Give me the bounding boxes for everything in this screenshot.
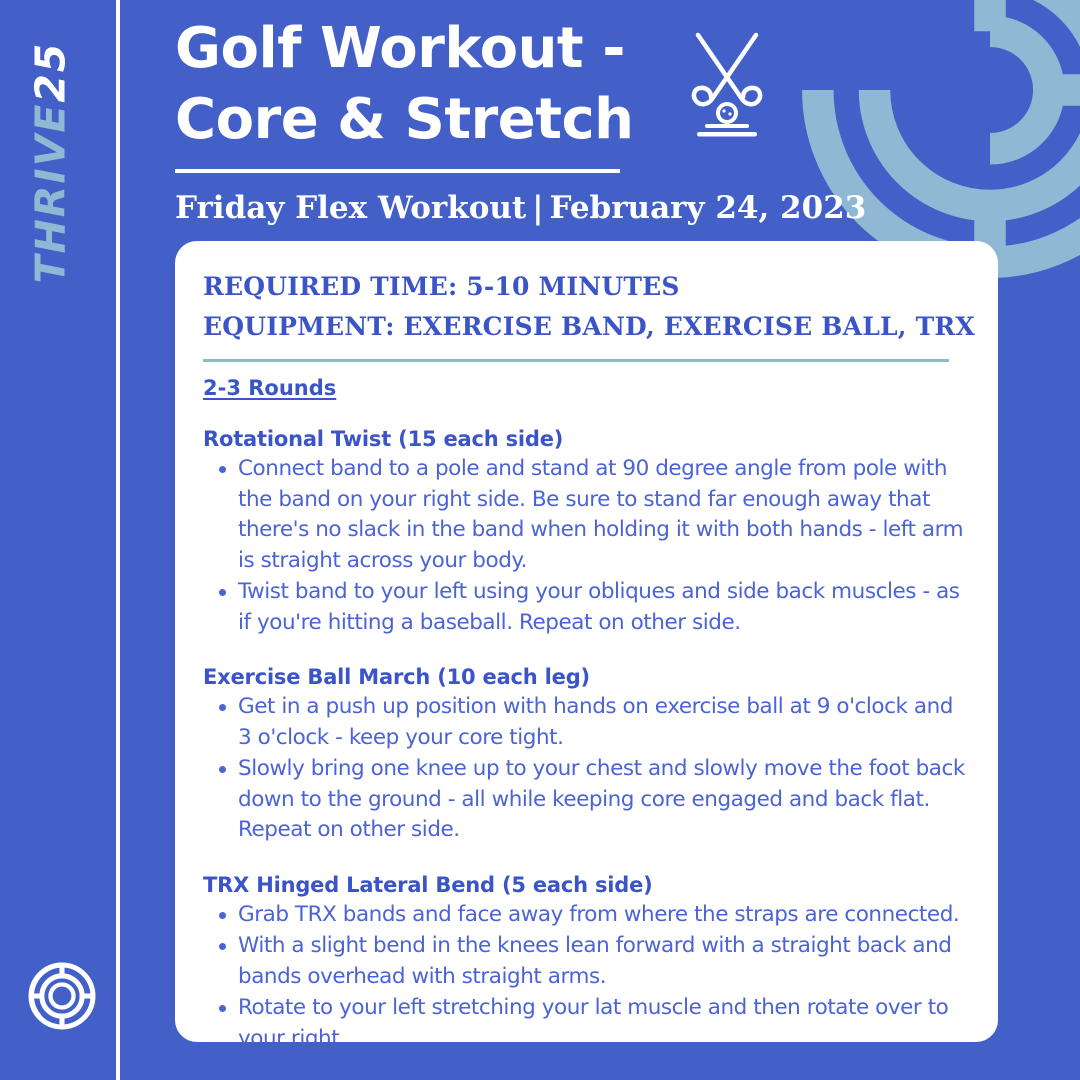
brand-wordmark: THRIVE25 [31, 33, 72, 293]
exercise-steps: Get in a push up position with hands on … [203, 692, 970, 846]
exercise-block: Rotational Twist (15 each side) Connect … [203, 427, 970, 638]
subtitle-separator: | [526, 190, 549, 226]
rail-divider [116, 0, 120, 1080]
exercise-step: Grab TRX bands and face away from where … [203, 900, 970, 931]
exercise-steps: Grab TRX bands and face away from where … [203, 900, 970, 1042]
exercise-block: Exercise Ball March (10 each leg) Get in… [203, 665, 970, 846]
exercise-title: Exercise Ball March (10 each leg) [203, 665, 970, 689]
exercise-step: With a slight bend in the knees lean for… [203, 931, 970, 992]
subtitle-date: February 24, 2023 [550, 190, 867, 226]
workout-infographic: THRIVE25 [0, 0, 1080, 1080]
crossed-golf-clubs-icon [672, 25, 782, 143]
subtitle: Friday Flex Workout|February 24, 2023 [175, 190, 875, 226]
brand-name-suffix: 25 [27, 42, 75, 103]
exercise-step: Slowly bring one knee up to your chest a… [203, 754, 970, 846]
exercise-step: Connect band to a pole and stand at 90 d… [203, 454, 970, 576]
required-time: REQUIRED TIME: 5-10 MINUTES [203, 267, 970, 307]
rounds-label: 2-3 Rounds [203, 376, 336, 400]
exercise-title: Rotational Twist (15 each side) [203, 427, 970, 451]
exercise-step: Get in a push up position with hands on … [203, 692, 970, 753]
exercise-step: Twist band to your left using your obliq… [203, 577, 970, 638]
exercise-title: TRX Hinged Lateral Bend (5 each side) [203, 873, 970, 897]
workout-card: REQUIRED TIME: 5-10 MINUTES EQUIPMENT: E… [175, 241, 998, 1042]
subtitle-workout-name: Friday Flex Workout [175, 190, 526, 226]
brand-name-primary: THRIVE [27, 103, 75, 284]
brand-rail: THRIVE25 [0, 0, 116, 1080]
exercise-steps: Connect band to a pole and stand at 90 d… [203, 454, 970, 638]
title-divider [175, 169, 620, 173]
equipment: EQUIPMENT: EXERCISE BAND, EXERCISE BALL,… [203, 307, 970, 347]
exercise-step: Rotate to your left stretching your lat … [203, 993, 970, 1042]
thrive-pinwheel-logo-icon [26, 960, 98, 1032]
exercise-block: TRX Hinged Lateral Bend (5 each side) Gr… [203, 873, 970, 1042]
